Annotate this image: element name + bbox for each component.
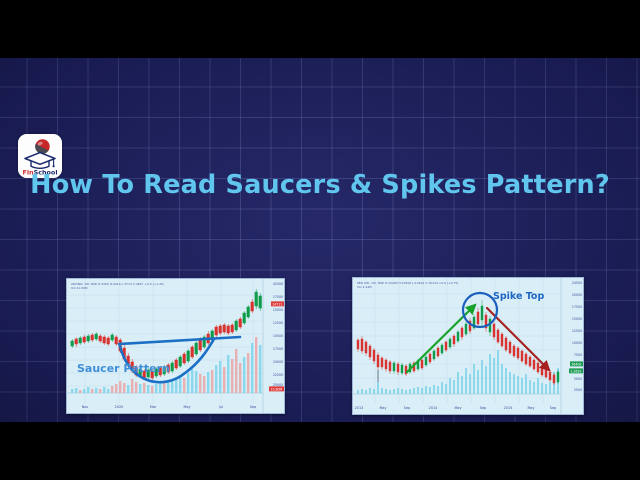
- chart-plot-area: PEN LTD, 1W, NSE O:10400 H:10500 L:10100…: [353, 278, 583, 414]
- volume-tag: 10.80M: [269, 386, 283, 391]
- y-tick: 10000: [572, 341, 582, 345]
- ticker-line-2: Vol 21.84M: [71, 286, 164, 290]
- volume-tag: 1.262k: [569, 368, 582, 373]
- spike-top-chart[interactable]: PEN LTD, 1W, NSE O:10400 H:10500 L:10100…: [352, 277, 584, 415]
- x-tick: Sep: [404, 406, 410, 410]
- x-tick: Mar: [150, 405, 156, 409]
- chart-plot-area: ARVIND, 1W, NSE O:4300 H:4914 L:3774 C:4…: [67, 279, 284, 413]
- x-tick: 2014: [429, 406, 438, 410]
- saucer-pattern-label: Saucer Pattern: [77, 362, 170, 375]
- y-tick: 24500: [572, 281, 582, 285]
- y-tick: 2500: [574, 388, 582, 392]
- x-tick: May: [454, 406, 461, 410]
- chart-ticker-header: ARVIND, 1W, NSE O:4300 H:4914 L:3774 C:4…: [71, 282, 164, 291]
- x-tick: May: [379, 406, 386, 410]
- x-tick: Sep: [250, 405, 256, 409]
- x-tick: May: [183, 405, 190, 409]
- y-tick: 15000: [273, 308, 283, 312]
- spike-top-label: Spike Top: [493, 291, 544, 302]
- saucer-pattern-chart[interactable]: ARVIND, 1W, NSE O:4300 H:4914 L:3774 C:4…: [66, 278, 285, 414]
- last-price-tag: 3640k: [570, 361, 582, 366]
- ticker-line-1: ARVIND, 1W, NSE O:4300 H:4914 L:3774 C:4…: [71, 282, 164, 286]
- last-price-tag: 14711: [271, 301, 284, 306]
- y-tick: 20000: [572, 293, 582, 297]
- y-tick: 20000: [273, 360, 283, 364]
- y-tick: 10000: [273, 334, 283, 338]
- y-tick: 15000: [572, 317, 582, 321]
- y-tick: 17500: [572, 305, 582, 309]
- y-tick: 7500: [574, 353, 582, 357]
- x-tick: Sep: [550, 406, 556, 410]
- y-tick: 17500: [273, 347, 283, 351]
- ticker-line-2: Vol 2.44M: [357, 285, 458, 289]
- x-tick: May: [527, 406, 534, 410]
- time-axis-right-chart[interactable]: 2013 May Sep 2014 May Sep 2015 May Sep: [353, 405, 583, 414]
- slide-background: FinSchool How To Read Saucers & Spikes P…: [0, 58, 640, 422]
- x-tick: Sep: [480, 406, 486, 410]
- letterbox-top: [0, 0, 640, 58]
- price-axis-left-chart[interactable]: 42500 17500 15000 12500 10000 17500 2000…: [264, 279, 284, 413]
- x-tick: 2015: [504, 406, 513, 410]
- chart-ticker-header: PEN LTD, 1W, NSE O:10400 H:10500 L:10100…: [357, 281, 458, 290]
- y-tick: 42500: [273, 282, 283, 286]
- time-axis-left-chart[interactable]: Nov 2020 Mar May Jul Sep: [67, 404, 284, 413]
- x-tick: 2020: [115, 405, 124, 409]
- slide-canvas: FinSchool How To Read Saucers & Spikes P…: [0, 0, 640, 480]
- y-tick: 17500: [273, 295, 283, 299]
- x-tick: Jul: [219, 405, 223, 409]
- spike-chart-graphic: [353, 278, 583, 414]
- ticker-line-1: PEN LTD, 1W, NSE O:10400 H:10500 L:10100…: [357, 281, 458, 285]
- x-tick: 2013: [355, 406, 364, 410]
- y-tick: 12500: [572, 329, 582, 333]
- price-axis-right-chart[interactable]: 24500 20000 17500 15000 12500 10000 7500…: [563, 278, 583, 414]
- y-tick: 5000: [574, 377, 582, 381]
- y-tick: 12500: [273, 321, 283, 325]
- y-tick: 22500: [273, 373, 283, 377]
- letterbox-bottom: [0, 422, 640, 480]
- saucer-chart-graphic: [67, 279, 284, 413]
- x-tick: Nov: [82, 405, 89, 409]
- page-title: How To Read Saucers & Spikes Pattern?: [0, 170, 640, 200]
